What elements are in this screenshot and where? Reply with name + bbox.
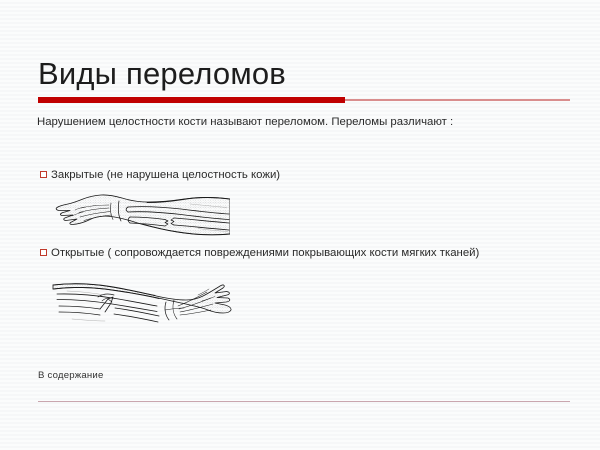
open-fracture-illustration: [52, 277, 232, 332]
title-thin-rule: [345, 99, 570, 101]
square-bullet-icon: [40, 171, 47, 178]
footer-divider: [38, 401, 570, 402]
intro-paragraph: Нарушением целостности кости называют пе…: [37, 114, 527, 132]
title-accent-bar: [38, 97, 345, 103]
table-of-contents-link[interactable]: В содержание: [38, 370, 104, 381]
square-bullet-icon: [40, 249, 47, 256]
list-item-label: Закрытые (не нарушена целостность кожи): [51, 167, 280, 184]
page-title: Виды переломов: [38, 57, 286, 90]
slide: Виды переломов Нарушением целостности ко…: [0, 0, 600, 450]
closed-fracture-illustration: [55, 192, 230, 240]
list-item: Закрытые (не нарушена целостность кожи): [40, 167, 520, 184]
list-item-label: Открытые ( сопровождается повреждениями …: [51, 245, 479, 262]
list-item: Открытые ( сопровождается повреждениями …: [40, 245, 540, 262]
